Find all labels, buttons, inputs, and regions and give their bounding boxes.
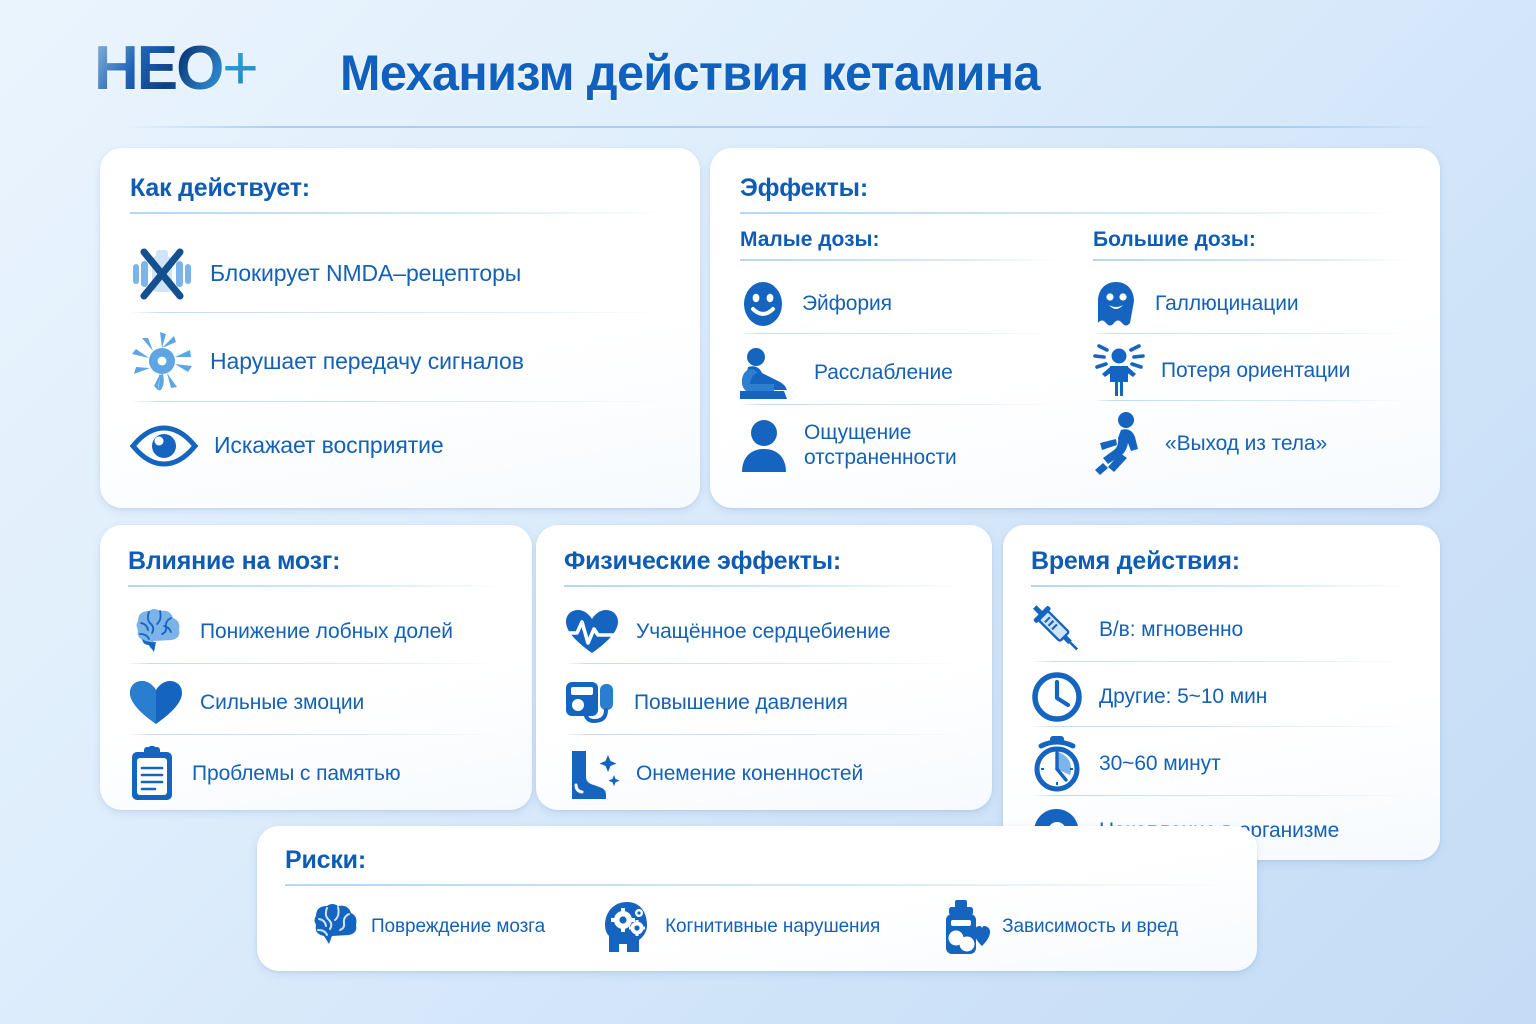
divider	[1031, 585, 1412, 587]
list-item-label: Другие: 5~10 мин	[1099, 685, 1267, 710]
list-item-label: Зависимость и вред	[1002, 916, 1178, 938]
effects-low-dose-column: Малые дозы: Эйфория	[740, 228, 1057, 479]
list-item-label: Понижение лобных долей	[200, 620, 453, 645]
divider	[128, 585, 504, 587]
nmda-receptor-blocked-icon	[130, 246, 194, 302]
relaxing-person-icon	[740, 345, 798, 401]
divider	[740, 404, 1057, 405]
blood-pressure-monitor-icon	[564, 676, 618, 730]
risks-list: Повреждение мозга	[285, 900, 1229, 954]
damaged-brain-icon	[307, 902, 359, 952]
list-item-label: Блокирует NMDA–рецепторы	[210, 260, 521, 287]
card-duration-title: Время действия:	[1031, 547, 1412, 576]
list-item[interactable]: «Выход из тела»	[1093, 409, 1410, 479]
list-item-label: Сильные змоции	[200, 691, 364, 716]
list-item[interactable]: Повреждение мозга	[307, 902, 545, 952]
high-dose-title: Большие дозы:	[1093, 228, 1410, 252]
card-physical-effects: Физические эффекты: Учащённое сердцебиен…	[536, 525, 992, 810]
card-risks-title: Риски:	[285, 846, 1229, 875]
list-item-label: В/в: мгновенно	[1099, 618, 1243, 643]
list-item[interactable]: Нарушает передачу сигналов	[130, 323, 670, 401]
clock-icon	[1031, 671, 1083, 723]
syringe-icon	[1031, 602, 1083, 658]
divider	[1093, 259, 1410, 261]
pill-bottle-icon	[936, 900, 990, 954]
low-dose-title: Малые дозы:	[740, 228, 1057, 252]
person-bust-icon	[740, 418, 788, 474]
list-item[interactable]: Другие: 5~10 мин	[1031, 668, 1412, 726]
list-item[interactable]: Учащённое сердцебиение	[564, 601, 964, 663]
list-item[interactable]: Ощущение отстраненности	[740, 413, 1057, 479]
effects-high-dose-column: Большие дозы: Галлюцинации	[1093, 228, 1410, 479]
card-how-title: Как действует:	[130, 174, 670, 203]
divider	[285, 884, 1229, 886]
header-divider	[120, 126, 1440, 128]
logo-plus-icon: +	[222, 34, 256, 103]
neuron-icon	[130, 330, 194, 394]
page-title: Механизм действия кетамина	[340, 44, 1040, 102]
list-item-label: Когнитивные нарушения	[665, 916, 880, 938]
divider	[1093, 333, 1410, 334]
clipboard-icon	[128, 746, 176, 802]
head-gears-icon	[601, 900, 653, 954]
card-physical-title: Физические эффекты:	[564, 547, 964, 576]
divider	[740, 259, 1057, 261]
logo: НЕО+	[94, 38, 257, 100]
list-item-label: Повышение давления	[634, 691, 848, 716]
heartbeat-icon	[564, 607, 620, 657]
card-effects: Эффекты: Малые дозы: Эйфория	[710, 148, 1440, 508]
divider	[130, 212, 670, 214]
list-item[interactable]: Искажает восприятие	[130, 412, 670, 480]
list-item[interactable]: В/в: мгновенно	[1031, 599, 1412, 661]
divider	[130, 312, 670, 313]
eye-icon	[130, 424, 198, 468]
ghost-icon	[1093, 279, 1139, 329]
list-item-label: Проблемы с памятью	[192, 762, 401, 787]
list-item-label: «Выход из тела»	[1165, 432, 1327, 457]
divider	[128, 734, 504, 735]
divider	[1031, 795, 1412, 796]
list-item-label: Потеря ориентации	[1161, 359, 1350, 384]
list-item[interactable]: Онемение коненностей	[564, 743, 964, 805]
divider	[1093, 400, 1410, 401]
infographic-page: НЕО+ Механизм действия кетамина Как дейс…	[0, 0, 1536, 1024]
list-item[interactable]: 30~60 минут	[1031, 733, 1412, 795]
list-item-label: Нарушает передачу сигналов	[210, 348, 524, 375]
list-item[interactable]: Потеря ориентации	[1093, 342, 1410, 400]
list-item[interactable]: Проблемы с памятью	[128, 743, 504, 805]
list-item[interactable]: Сильные змоции	[128, 672, 504, 734]
card-brain-impact: Влияние на мозг: Понижение ло	[100, 525, 532, 810]
header: НЕО+ Механизм действия кетамина	[0, 0, 1536, 132]
numb-leg-icon	[564, 747, 620, 801]
list-item[interactable]: Зависимость и вред	[936, 900, 1178, 954]
stopwatch-icon	[1031, 736, 1083, 792]
smiley-face-icon	[740, 279, 786, 329]
list-item-label: Искажает восприятие	[214, 432, 444, 459]
list-item-label: Эйфория	[802, 292, 892, 317]
effects-columns: Малые дозы: Эйфория	[740, 228, 1410, 479]
list-item[interactable]: Расслабление	[740, 342, 1057, 404]
list-item-label: Повреждение мозга	[371, 916, 545, 938]
list-item-label: Учащённое сердцебиение	[636, 620, 890, 645]
divider	[1031, 726, 1412, 727]
card-risks: Риски: Повреждение	[257, 826, 1257, 971]
list-item[interactable]: Повышение давления	[564, 672, 964, 734]
floating-person-icon	[1093, 411, 1149, 477]
list-item-label: Ощущение отстраненности	[804, 421, 1057, 471]
card-duration: Время действия: В/в: мгновенно	[1003, 525, 1440, 860]
list-item-label: Расслабление	[814, 361, 953, 386]
list-item[interactable]: Галлюцинации	[1093, 275, 1410, 333]
heart-icon	[128, 678, 184, 728]
list-item-label: Онемение коненностей	[636, 762, 863, 787]
list-item-label: Галлюцинации	[1155, 292, 1298, 317]
divider	[740, 333, 1057, 334]
card-how-it-works: Как действует: Блокирует NMDA–рецепторы	[100, 148, 700, 508]
card-effects-title: Эффекты:	[740, 174, 1410, 203]
divider	[564, 734, 964, 735]
list-item-label: 30~60 минут	[1099, 752, 1221, 777]
divider	[128, 663, 504, 664]
divider	[740, 212, 1410, 214]
brain-icon	[128, 607, 184, 657]
logo-text: НЕО	[94, 34, 222, 103]
divider	[564, 585, 964, 587]
list-item[interactable]: Понижение лобных долей	[128, 601, 504, 663]
card-brain-title: Влияние на мозг:	[128, 547, 504, 576]
divider	[564, 663, 964, 664]
divider	[1031, 661, 1412, 662]
list-item[interactable]: Эйфория	[740, 275, 1057, 333]
list-item[interactable]: Когнитивные нарушения	[601, 900, 880, 954]
list-item[interactable]: Блокирует NMDA–рецепторы	[130, 236, 670, 312]
divider	[130, 401, 670, 402]
disoriented-person-icon	[1093, 344, 1145, 398]
